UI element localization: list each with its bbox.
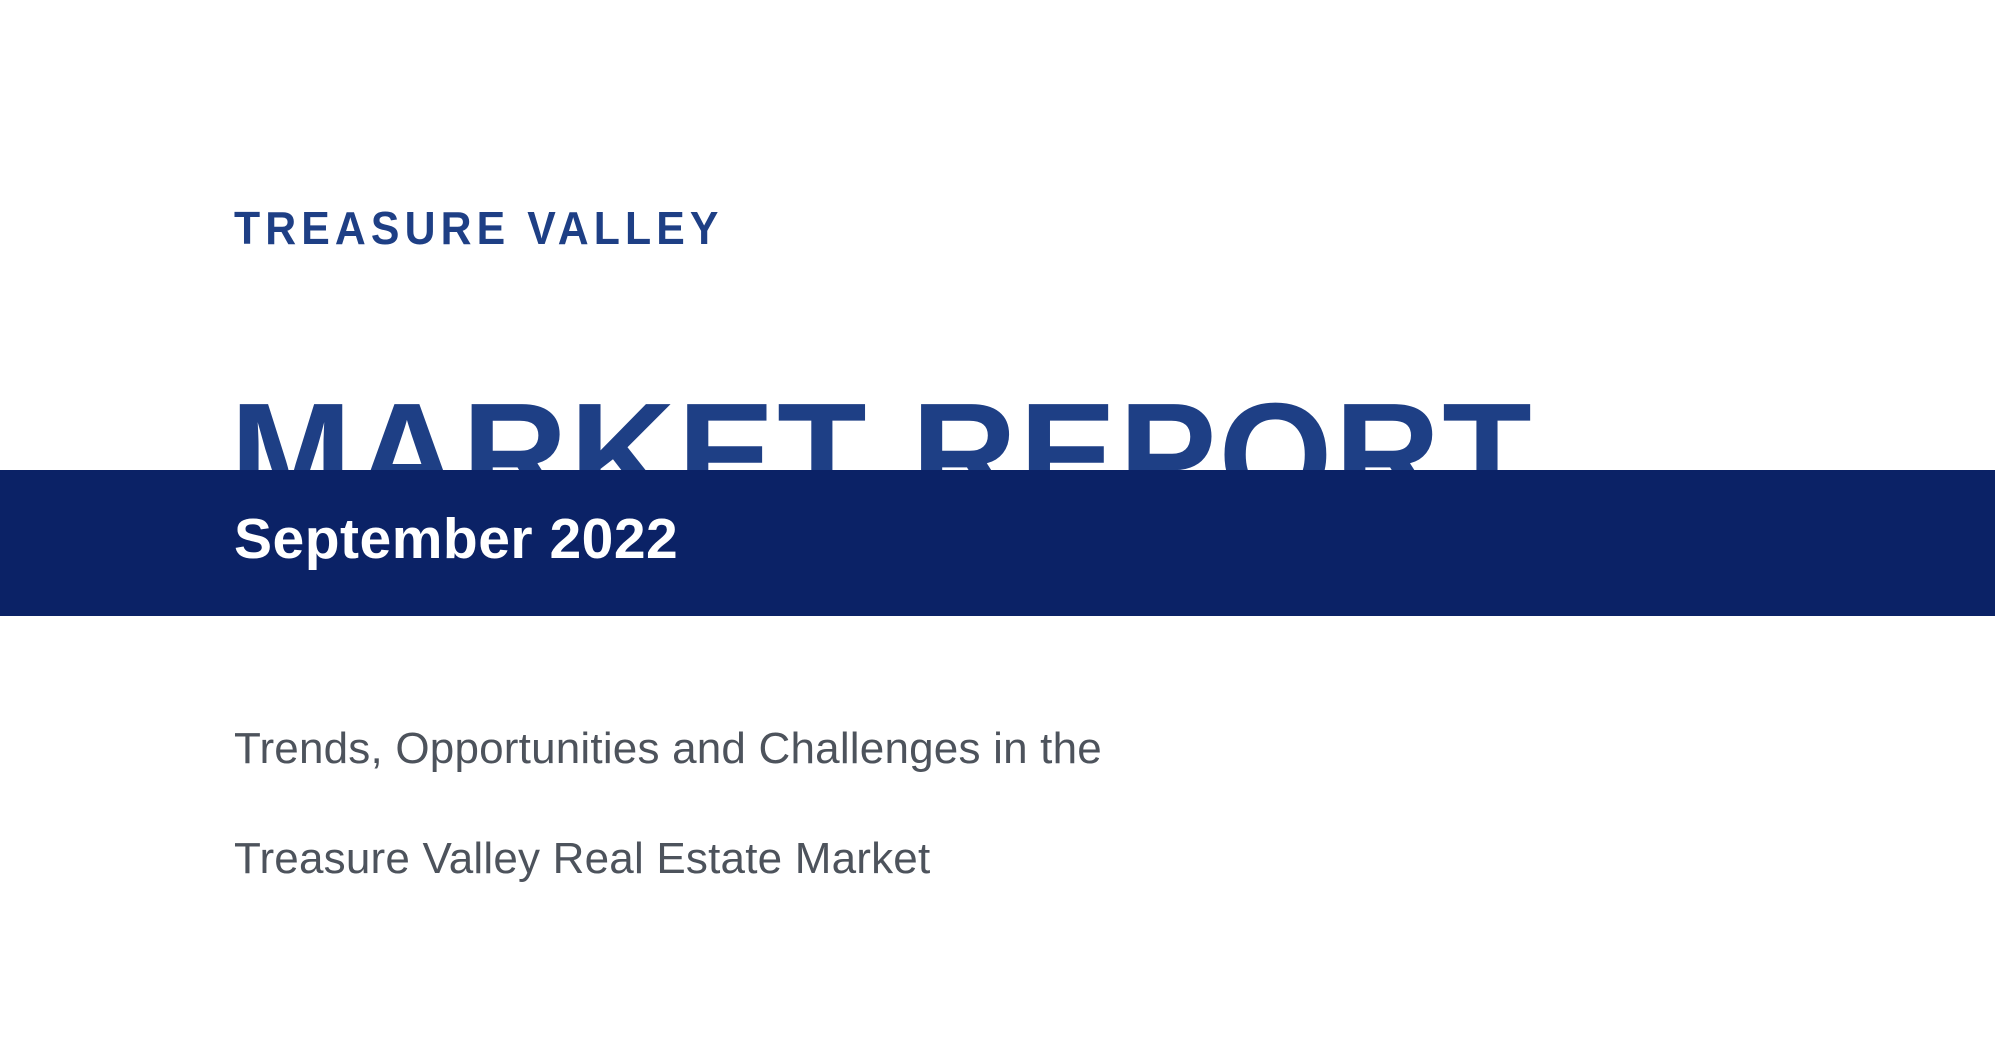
date-banner: September 2022	[0, 470, 1995, 616]
report-date-label: September 2022	[234, 511, 678, 568]
report-cover-slide: TREASURE VALLEY MARKET REPORT September …	[0, 0, 2000, 1050]
report-eyebrow-text: TREASURE VALLEY	[234, 205, 724, 251]
report-subtitle: Trends, Opportunities and Challenges in …	[234, 666, 1102, 941]
report-subtitle-line-1: Trends, Opportunities and Challenges in …	[234, 721, 1102, 776]
report-subtitle-line-2: Treasure Valley Real Estate Market	[234, 831, 1102, 886]
